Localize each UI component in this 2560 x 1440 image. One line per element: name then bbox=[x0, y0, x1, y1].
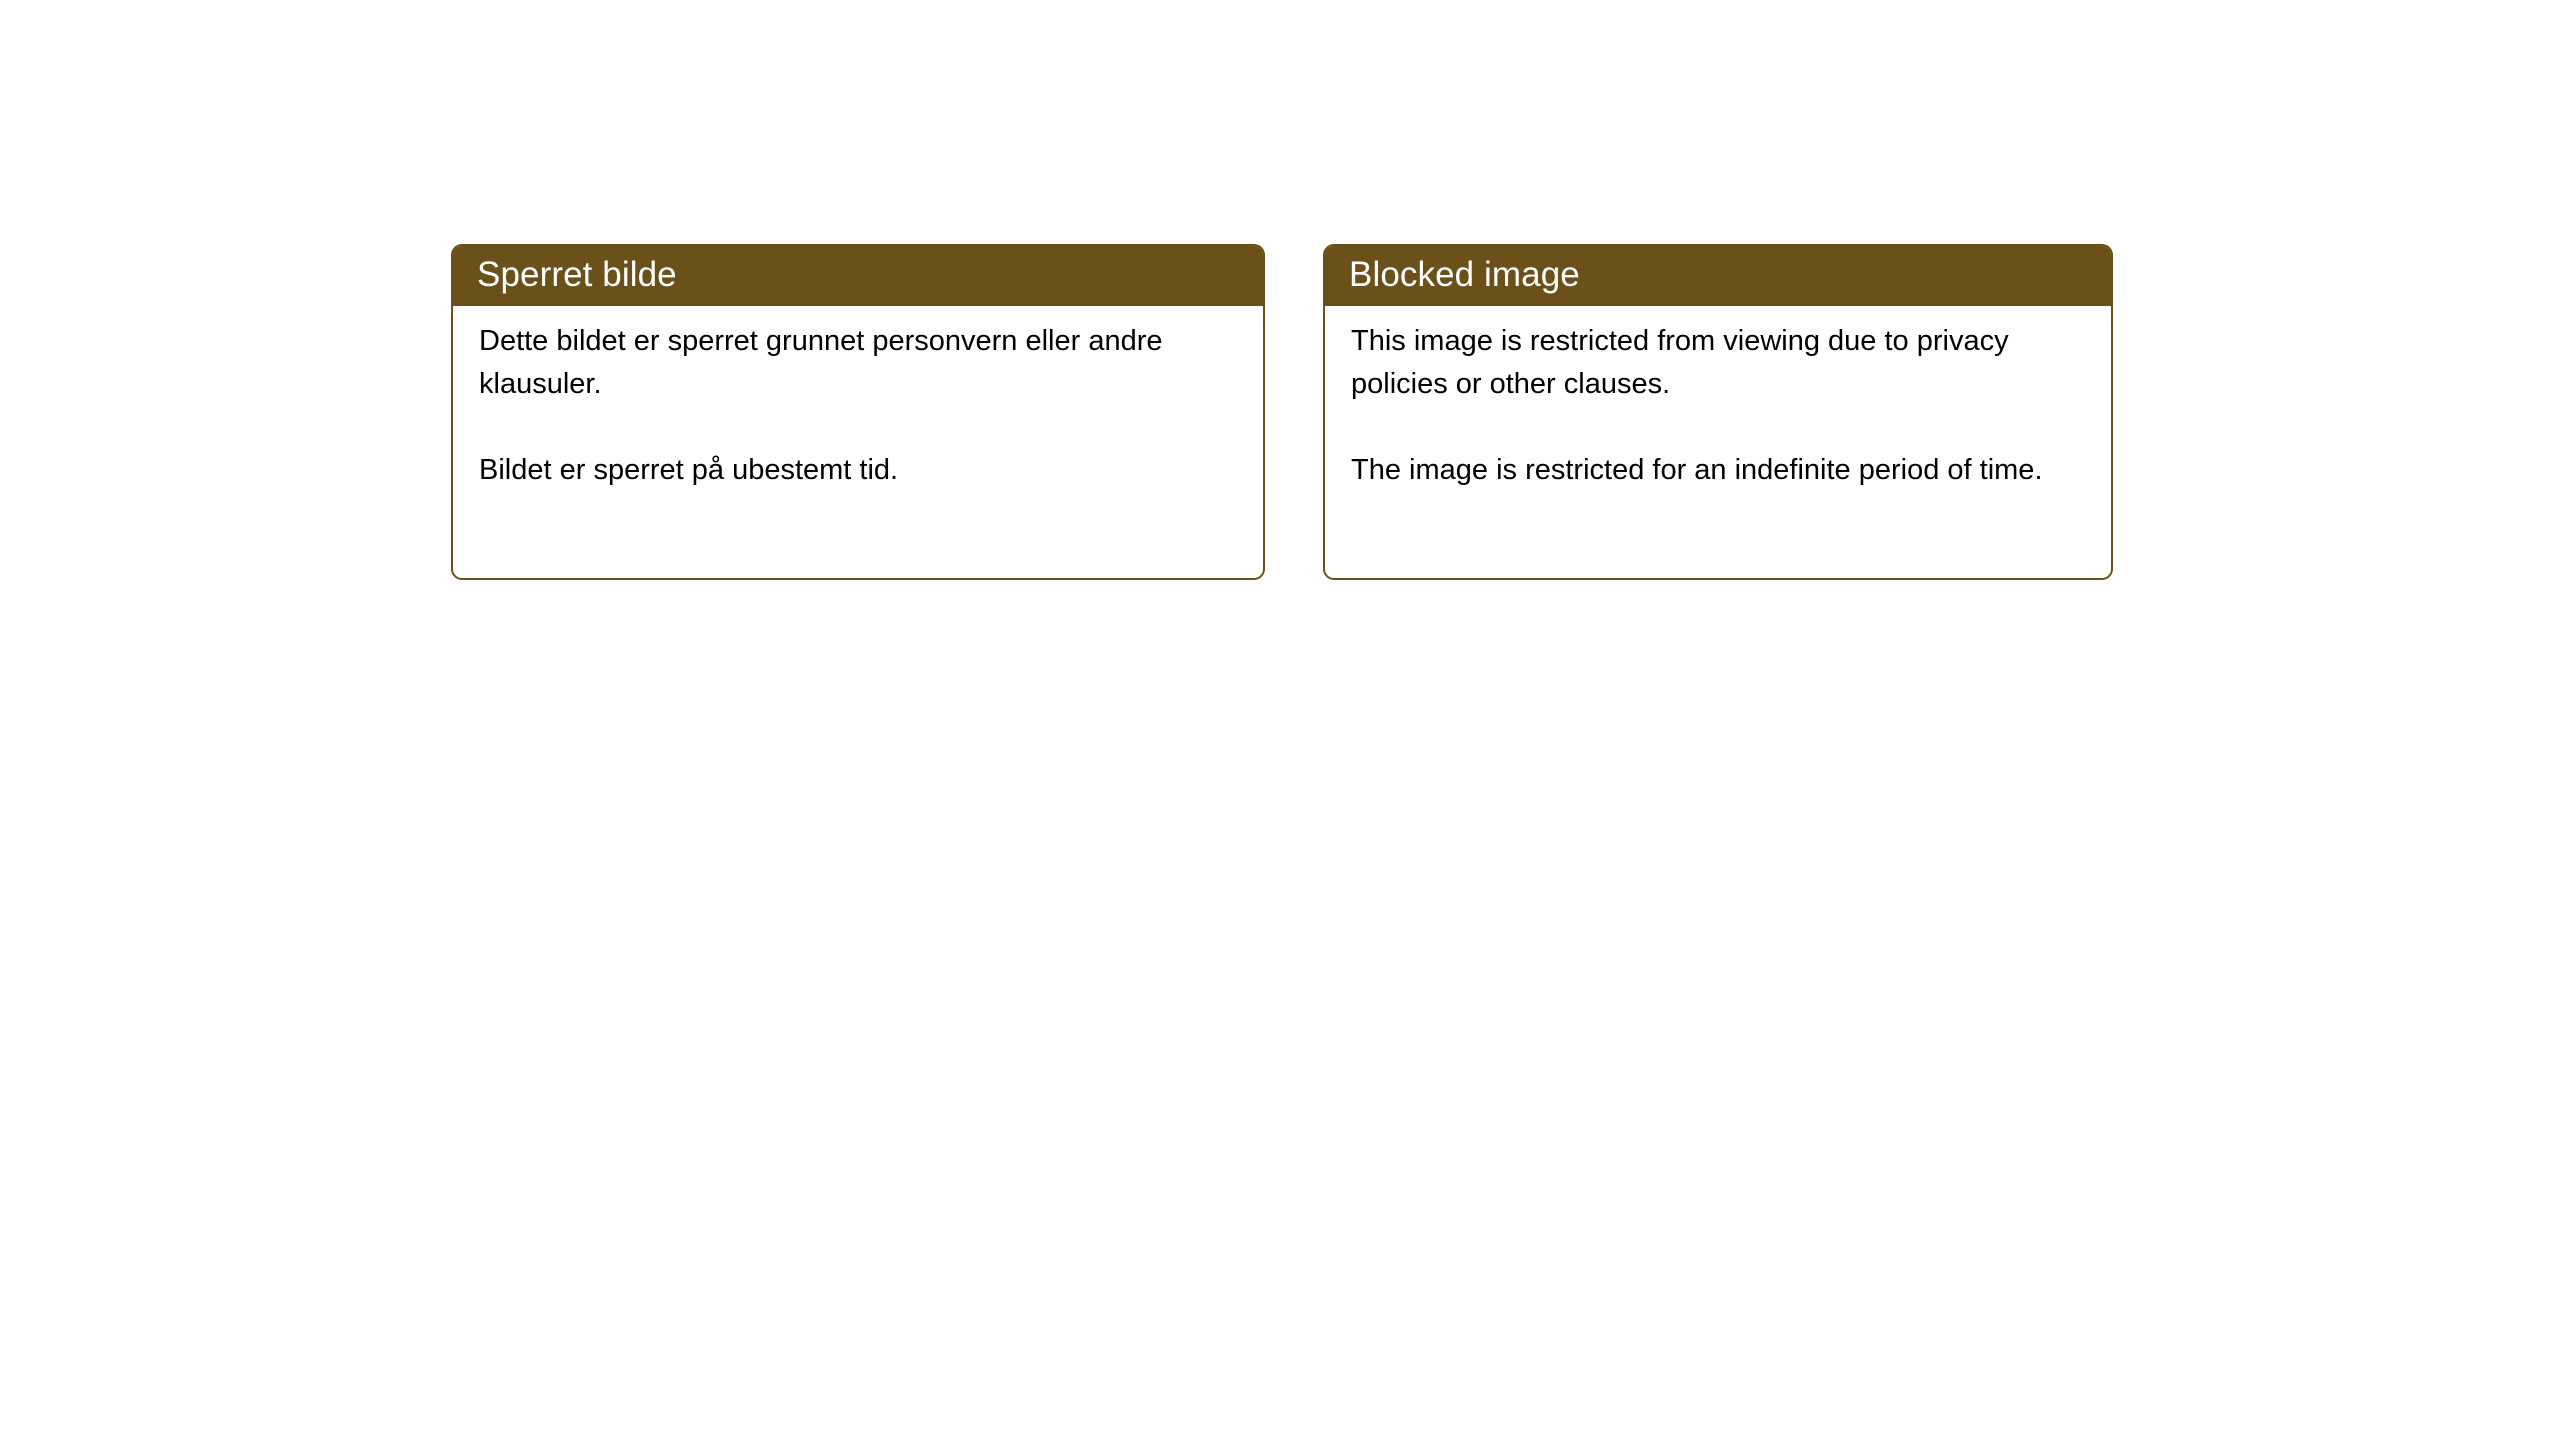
card-body-english: This image is restricted from viewing du… bbox=[1325, 306, 2111, 492]
blocked-image-notice-card-norwegian: Sperret bilde Dette bildet er sperret gr… bbox=[451, 244, 1265, 580]
card-title-english: Blocked image bbox=[1349, 255, 1580, 295]
card-paragraph-duration-english: The image is restricted for an indefinit… bbox=[1351, 449, 2089, 492]
card-header-english: Blocked image bbox=[1323, 244, 2113, 306]
card-paragraph-duration-norwegian: Bildet er sperret på ubestemt tid. bbox=[479, 449, 1241, 492]
card-paragraph-reason-english: This image is restricted from viewing du… bbox=[1351, 320, 2089, 406]
card-paragraph-reason-norwegian: Dette bildet er sperret grunnet personve… bbox=[479, 320, 1241, 406]
page-canvas: Sperret bilde Dette bildet er sperret gr… bbox=[0, 0, 2560, 1440]
card-title-norwegian: Sperret bilde bbox=[477, 255, 677, 295]
card-body-norwegian: Dette bildet er sperret grunnet personve… bbox=[453, 306, 1263, 492]
card-header-norwegian: Sperret bilde bbox=[451, 244, 1265, 306]
blocked-image-notice-card-english: Blocked image This image is restricted f… bbox=[1323, 244, 2113, 580]
